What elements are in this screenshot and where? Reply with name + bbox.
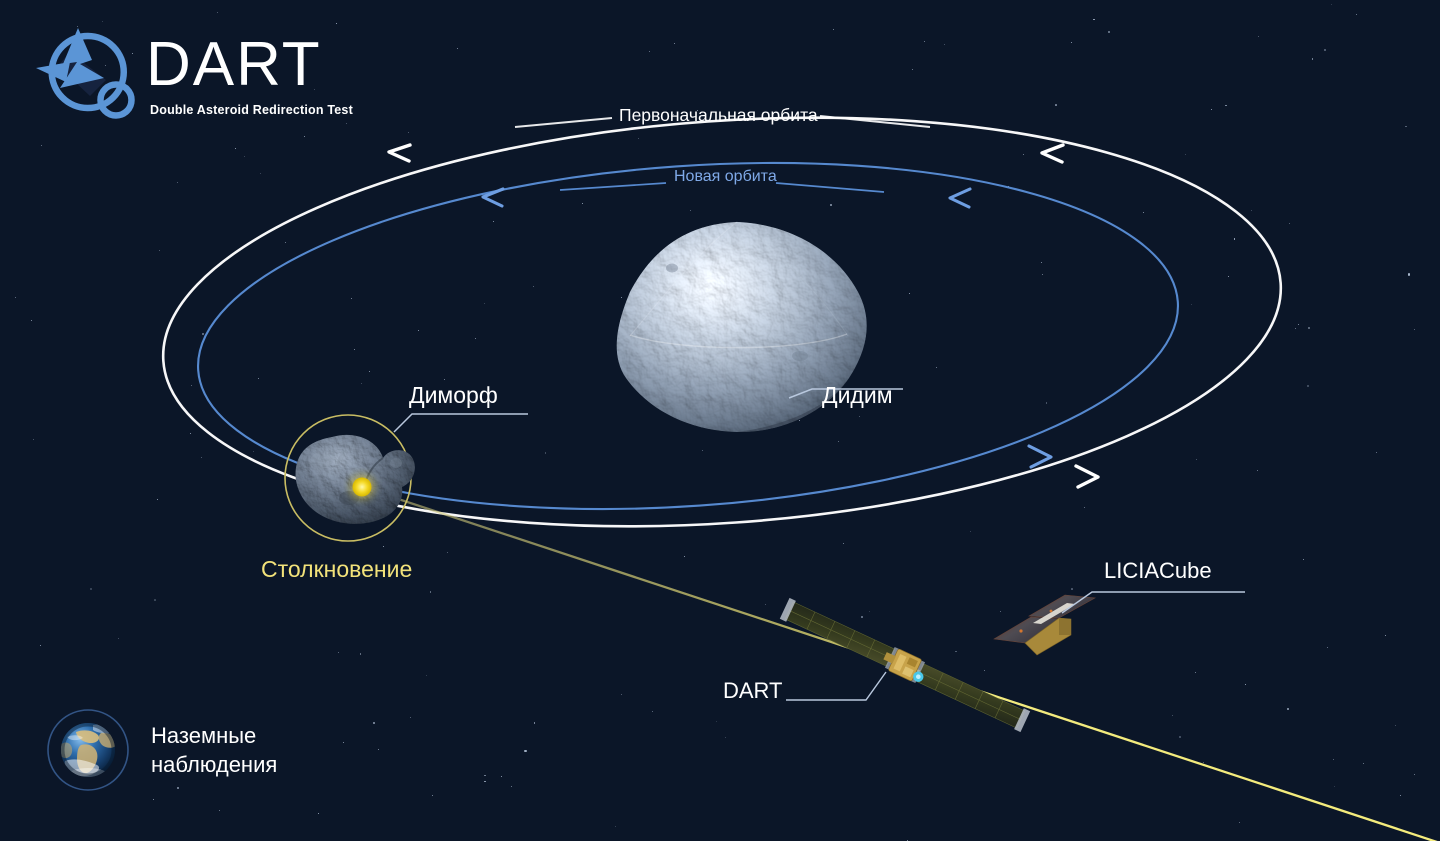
label-new-orbit: Новая орбита: [674, 167, 777, 187]
dart-leader-line: [786, 672, 886, 700]
liciacube-leader-line: [1062, 592, 1245, 613]
orbit-arrow-bottom-right: [1076, 466, 1098, 487]
new-orbit-arrow-top-right: [950, 189, 970, 207]
label-dart-spacecraft: DART: [723, 677, 783, 705]
label-original-orbit: Первоначальная орбита: [619, 104, 818, 126]
new-orbit-arrow-top-left: [483, 189, 503, 206]
liciacube-spacecraft: [994, 595, 1095, 655]
dart-mission-diagram: DART Double Asteroid Redirection Test Пе…: [0, 0, 1440, 841]
ground-observations: Наземные наблюдения: [43, 705, 277, 795]
dart-arrow-orbit-icon: [30, 22, 142, 128]
label-dimorphos: Диморф: [409, 381, 498, 410]
orbit-arrow-top-right: [1042, 145, 1063, 162]
dart-spacecraft: [779, 598, 1030, 732]
logo-wordmark: DART: [146, 34, 322, 96]
earth-globe-icon: [43, 705, 133, 795]
label-collision: Столкновение: [261, 555, 412, 584]
ground-observations-text: Наземные наблюдения: [151, 721, 277, 780]
label-didymos: Дидим: [822, 381, 893, 410]
ground-observations-line2: наблюдения: [151, 750, 277, 779]
orbit-arrow-top-left: [389, 145, 410, 161]
dimorphos-leader-line: [394, 414, 528, 432]
impact-point-marker: [353, 478, 372, 497]
dimorphos-moonlet: [296, 435, 415, 524]
ground-observations-line1: Наземные: [151, 721, 277, 750]
logo-tagline: Double Asteroid Redirection Test: [150, 103, 353, 117]
label-liciacube: LICIACube: [1104, 557, 1212, 585]
new-orbit-arrow-bottom-right: [1029, 446, 1051, 467]
dart-logo: DART Double Asteroid Redirection Test: [30, 22, 353, 128]
